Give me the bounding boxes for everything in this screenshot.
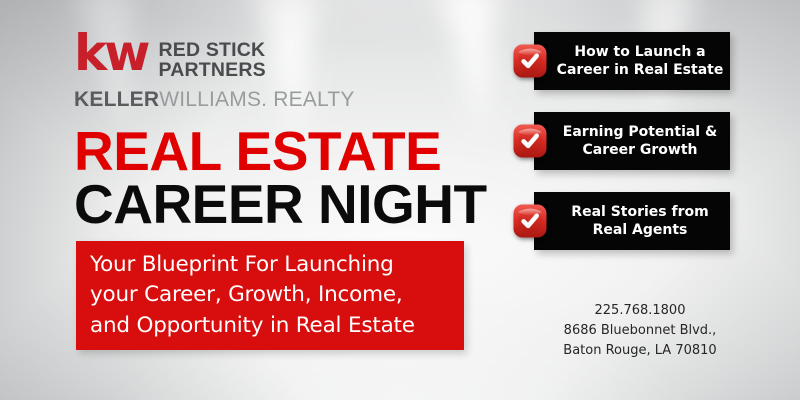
topic-label-line-2: Real Agents — [571, 221, 708, 239]
office-name: RED STICK PARTNERS — [158, 36, 265, 81]
topic-label: Earning Potential & Career Growth — [541, 123, 723, 160]
logo-top-row: kw RED STICK PARTNERS — [74, 36, 355, 81]
topic-label-line-1: Real Stories from — [571, 203, 708, 221]
address-line-2: Baton Rouge, LA 70810 — [520, 341, 760, 361]
check-circle-icon — [512, 123, 548, 159]
office-name-line1: RED STICK — [158, 40, 265, 60]
wordmark-keller: KELLER — [74, 88, 159, 111]
topic-label: How to Launch a Career in Real Estate — [535, 43, 730, 80]
subtitle-banner: Your Blueprint For Launching your Career… — [76, 241, 464, 350]
contact-info: 225.768.1800 8686 Bluebonnet Blvd., Bato… — [520, 301, 760, 361]
subtitle-line-2: your Career, Growth, Income, — [90, 280, 415, 311]
subtitle-line-3: and Opportunity in Real Estate — [90, 311, 415, 342]
kw-monogram-icon: kw — [74, 32, 147, 75]
topic-label-box: Earning Potential & Career Growth — [534, 112, 730, 170]
wordmark-williams-realty: WILLIAMS. REALTY — [159, 88, 354, 111]
topic-label-line-2: Career in Real Estate — [557, 61, 724, 79]
headline-line-1: REAL ESTATE — [74, 126, 487, 177]
topic-label-box: How to Launch a Career in Real Estate — [534, 32, 730, 90]
keller-williams-realty-wordmark: KELLERWILLIAMS. REALTY — [74, 88, 355, 112]
topic-label-line-2: Career Growth — [563, 141, 717, 159]
subtitle-text: Your Blueprint For Launching your Career… — [76, 250, 429, 342]
headline-line-2: CAREER NIGHT — [74, 179, 487, 230]
office-name-line2: PARTNERS — [158, 60, 265, 80]
kw-logo-lockup: kw RED STICK PARTNERS KELLERWILLIAMS. RE… — [74, 36, 355, 112]
check-circle-icon — [512, 203, 548, 239]
subtitle-line-1: Your Blueprint For Launching — [90, 250, 415, 281]
career-night-flyer: kw RED STICK PARTNERS KELLERWILLIAMS. RE… — [0, 0, 800, 400]
address-line-1: 8686 Bluebonnet Blvd., — [520, 321, 760, 341]
topic-label-line-1: How to Launch a — [557, 43, 724, 61]
topic-label: Real Stories from Real Agents — [549, 203, 714, 240]
check-circle-icon — [512, 43, 548, 79]
phone-number: 225.768.1800 — [520, 301, 760, 321]
page-title: REAL ESTATE CAREER NIGHT — [74, 126, 487, 230]
topic-label-line-1: Earning Potential & — [563, 123, 717, 141]
topic-label-box: Real Stories from Real Agents — [534, 192, 730, 250]
